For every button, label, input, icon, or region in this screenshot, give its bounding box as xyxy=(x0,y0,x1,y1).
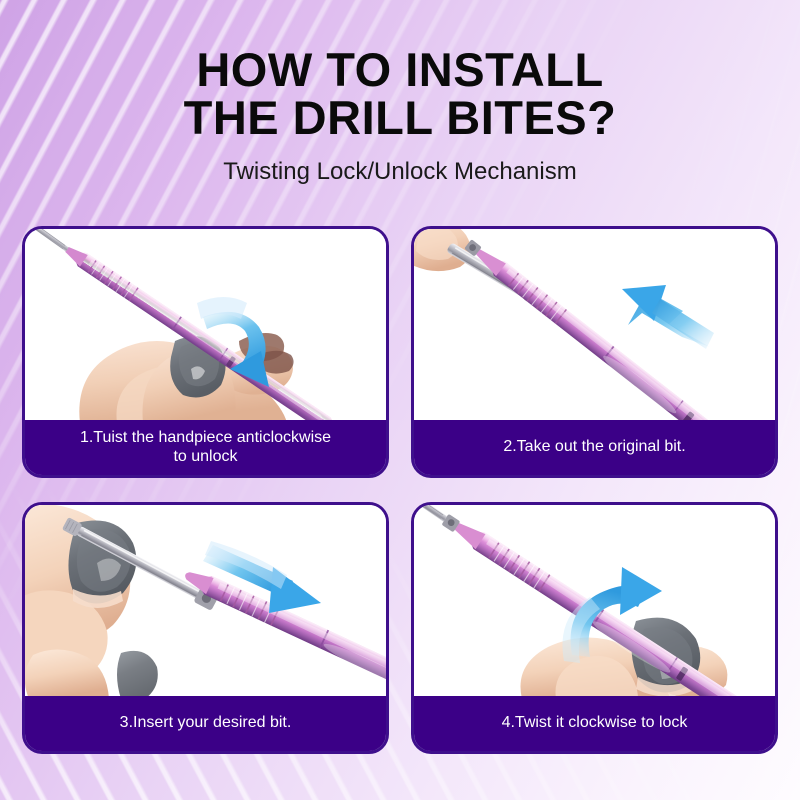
step-photo-2 xyxy=(414,229,775,423)
step-caption-2: 2.Take out the original bit. xyxy=(414,420,775,475)
step-photo-3 xyxy=(25,505,386,699)
step-panel-3: 3.Insert your desired bit. xyxy=(22,502,389,754)
illustration-twist-unlock xyxy=(25,229,386,423)
step-photo-1 xyxy=(25,229,386,423)
step-caption-1: 1.Tuist the handpiece anticlockwise to u… xyxy=(25,420,386,475)
step-caption-3: 3.Insert your desired bit. xyxy=(25,696,386,751)
infographic-poster: HOW TO INSTALL THE DRILL BITES? Twisting… xyxy=(0,0,800,800)
illustration-insert-bit xyxy=(25,505,386,699)
step-panel-1: 1.Tuist the handpiece anticlockwise to u… xyxy=(22,226,389,478)
step-caption-4: 4.Twist it clockwise to lock xyxy=(414,696,775,751)
steps-grid: 1.Tuist the handpiece anticlockwise to u… xyxy=(22,226,778,778)
page-subtitle: Twisting Lock/Unlock Mechanism xyxy=(0,158,800,186)
illustration-twist-lock xyxy=(414,505,775,699)
header: HOW TO INSTALL THE DRILL BITES? Twisting… xyxy=(0,46,800,186)
step-panel-2: 2.Take out the original bit. xyxy=(411,226,778,478)
step-panel-4: 4.Twist it clockwise to lock xyxy=(411,502,778,754)
page-title: HOW TO INSTALL THE DRILL BITES? xyxy=(0,46,800,142)
step-photo-4 xyxy=(414,505,775,699)
illustration-remove-bit xyxy=(414,229,775,423)
